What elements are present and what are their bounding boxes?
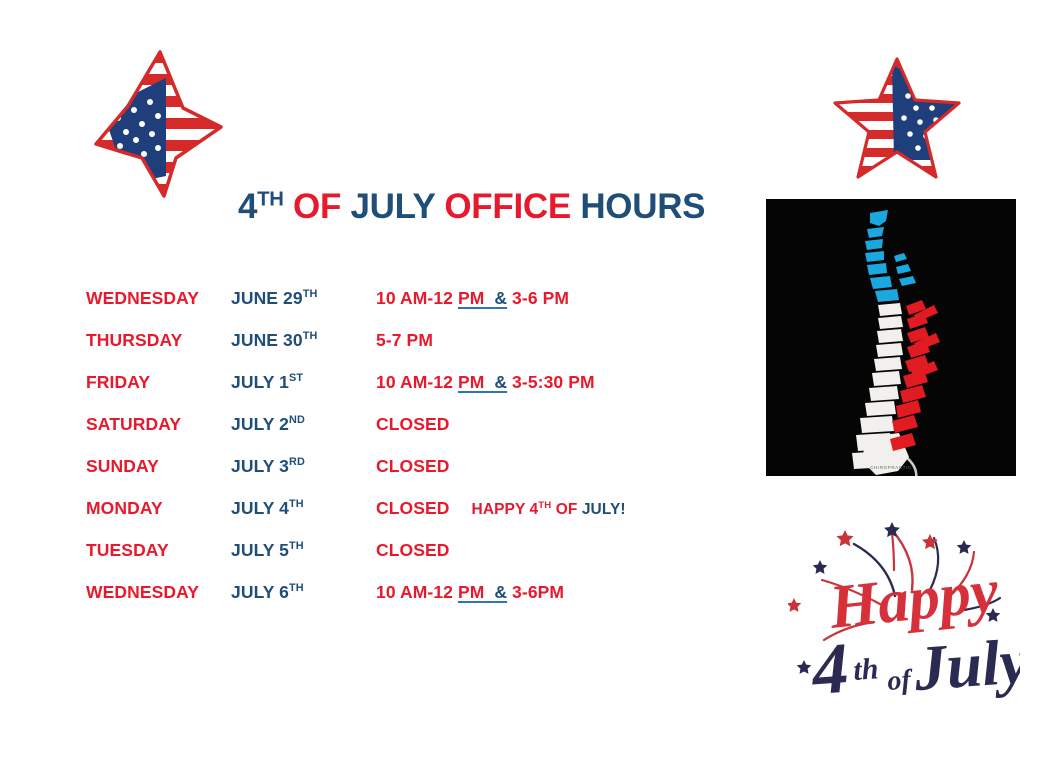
american-flag-star-icon <box>832 56 962 182</box>
row-day: FRIDAY <box>86 372 150 393</box>
american-flag-star-icon <box>92 48 224 200</box>
happy-4th-of-july-logo: Happy 4 th of July <box>788 518 1020 710</box>
row-hours: 10 AM-12 PM & 3-6PM <box>376 582 564 603</box>
row-date: JULY 1ST <box>231 372 303 393</box>
row-hours: CLOSED <box>376 456 450 477</box>
table-row: WEDNESDAY JULY 6TH 10 AM-12 PM & 3-6PM <box>86 582 706 624</box>
title-part-july: JULY <box>351 187 435 226</box>
table-row: WEDNESDAY JUNE 29TH 10 AM-12 PM & 3-6 PM <box>86 288 706 330</box>
table-row: MONDAY JULY 4TH CLOSEDHAPPY 4TH OF JULY! <box>86 498 706 540</box>
row-day: WEDNESDAY <box>86 288 199 309</box>
logo-word-of: of <box>886 664 914 697</box>
title-part-hours: HOURS <box>580 187 705 226</box>
spine-illustration-icon <box>766 199 1016 476</box>
page-title: 4TH OF JULY OFFICE HOURS <box>238 187 705 227</box>
row-date: JUNE 29TH <box>231 288 317 309</box>
row-day: WEDNESDAY <box>86 582 199 603</box>
title-part-4th: 4TH <box>238 187 284 226</box>
logo-word-th: th <box>852 652 879 687</box>
logo-word-july: July <box>911 625 1020 704</box>
row-date: JULY 6TH <box>231 582 304 603</box>
schedule-table: WEDNESDAY JUNE 29TH 10 AM-12 PM & 3-6 PM… <box>86 288 706 624</box>
row-hours: 10 AM-12 PM & 3-6 PM <box>376 288 569 309</box>
flyer-canvas: 4TH OF JULY OFFICE HOURS WEDNESDAY JUNE … <box>0 0 1049 760</box>
row-date: JULY 3RD <box>231 456 305 477</box>
table-row: SUNDAY JULY 3RD CLOSED <box>86 456 706 498</box>
title-part-office: OFFICE <box>444 187 571 226</box>
row-day: TUESDAY <box>86 540 169 561</box>
holiday-note: HAPPY 4TH OF JULY! <box>472 501 626 518</box>
row-hours: 10 AM-12 PM & 3-5:30 PM <box>376 372 595 393</box>
happy-4th-of-july-logo-icon: Happy 4 th of July <box>788 518 1020 710</box>
table-row: THURSDAY JUNE 30TH 5-7 PM <box>86 330 706 372</box>
spine-caption: CHIROPRACTIC <box>766 465 1016 470</box>
title-part-of: OF <box>293 187 341 226</box>
row-date: JULY 4TH <box>231 498 304 519</box>
row-date: JULY 5TH <box>231 540 304 561</box>
row-hours: CLOSED <box>376 540 450 561</box>
title-sup-th: TH <box>257 189 283 211</box>
table-row: SATURDAY JULY 2ND CLOSED <box>86 414 706 456</box>
chiropractic-spine-image: CHIROPRACTIC <box>766 199 1016 476</box>
row-day: SATURDAY <box>86 414 181 435</box>
row-day: MONDAY <box>86 498 163 519</box>
row-hours: 5-7 PM <box>376 330 433 351</box>
american-flag-star-left <box>92 48 224 200</box>
row-hours: CLOSEDHAPPY 4TH OF JULY! <box>376 498 626 519</box>
table-row: FRIDAY JULY 1ST 10 AM-12 PM & 3-5:30 PM <box>86 372 706 414</box>
table-row: TUESDAY JULY 5TH CLOSED <box>86 540 706 582</box>
row-day: SUNDAY <box>86 456 159 477</box>
row-date: JUNE 30TH <box>231 330 317 351</box>
american-flag-star-right <box>832 56 962 182</box>
logo-word-four: 4 <box>808 628 851 710</box>
row-hours: CLOSED <box>376 414 450 435</box>
row-date: JULY 2ND <box>231 414 305 435</box>
row-day: THURSDAY <box>86 330 182 351</box>
